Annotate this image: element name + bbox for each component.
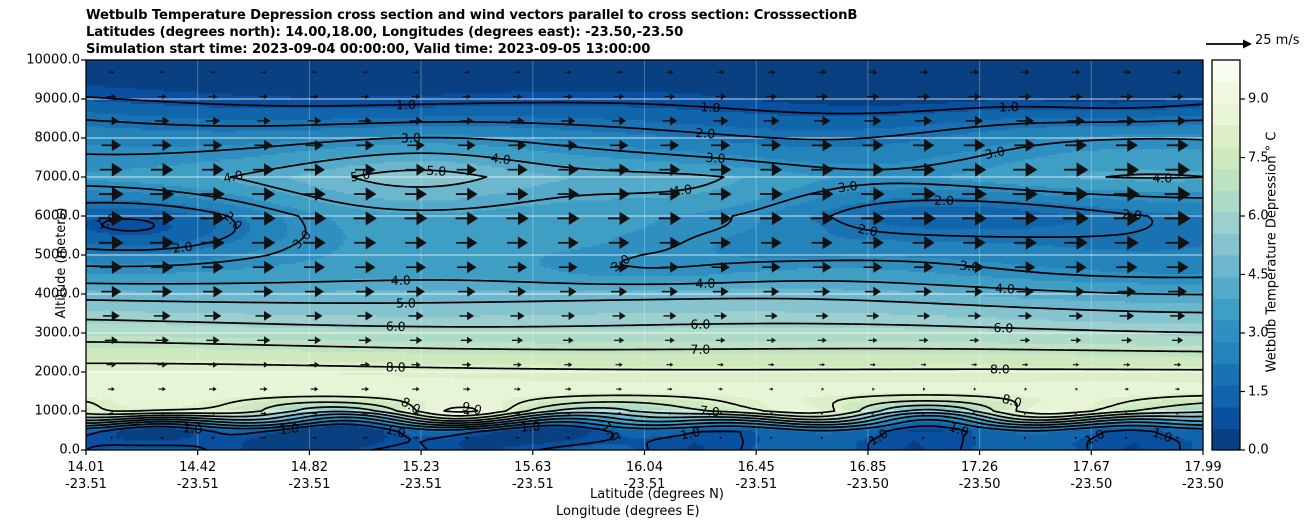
colorbar-swatch xyxy=(1212,320,1240,342)
x-tick-label-group: 14.82-23.51 xyxy=(288,459,330,493)
x-tick-label-group: 14.42-23.51 xyxy=(177,459,219,493)
x-tick-label-group: 17.99-23.50 xyxy=(1182,459,1224,493)
x-tick-label-latitude: 17.99 xyxy=(1182,459,1224,476)
colorbar-swatch xyxy=(1212,212,1240,234)
y-tick-label: 4000.0 xyxy=(35,287,81,302)
colorbar-swatch xyxy=(1212,255,1240,277)
svg-text:1.0: 1.0 xyxy=(278,420,299,437)
contour-label: 8.0 xyxy=(383,359,409,375)
contour-label: 4.0 xyxy=(692,275,718,292)
contour-label: 4.0 xyxy=(992,280,1019,297)
svg-text:5.0: 5.0 xyxy=(396,295,416,310)
colorbar-swatch xyxy=(1212,168,1240,190)
contour-label: 1.0 xyxy=(275,419,302,438)
colorbar-swatch xyxy=(1212,125,1240,147)
svg-text:1.0: 1.0 xyxy=(520,418,541,434)
svg-text:7.0: 7.0 xyxy=(699,402,721,419)
y-tick-label: 9000.0 xyxy=(35,92,81,107)
contour-label: 5.0 xyxy=(393,295,419,311)
contour-label: 2.0 xyxy=(931,192,957,208)
svg-text:4.0: 4.0 xyxy=(695,276,715,292)
x-tick-label-group: 15.23-23.51 xyxy=(400,459,442,493)
svg-text:4.0: 4.0 xyxy=(995,280,1016,296)
x-tick-label-latitude: 14.42 xyxy=(177,459,219,476)
contour-label: 3.0 xyxy=(702,149,729,167)
y-tick-label: 2000.0 xyxy=(35,365,81,380)
contour-label: 6.0 xyxy=(383,318,409,334)
contour-label: 6.0 xyxy=(687,316,713,332)
svg-text:6.0: 6.0 xyxy=(690,316,710,331)
colorbar-tick-label: 6.0 xyxy=(1248,209,1269,224)
colorbar-swatch xyxy=(1212,233,1240,255)
x-tick-label-longitude: -23.50 xyxy=(847,476,889,493)
x-tick-label-latitude: 17.26 xyxy=(959,459,1001,476)
contour-label: 1.0 xyxy=(393,96,419,113)
colorbar-swatch xyxy=(1212,60,1240,82)
x-tick-label-longitude: -23.50 xyxy=(1182,476,1224,493)
svg-text:2.0: 2.0 xyxy=(695,125,716,141)
contour-label: 2.0 xyxy=(169,238,196,257)
contour-label: 6.0 xyxy=(990,319,1016,336)
colorbar-tick-label: 9.0 xyxy=(1248,92,1269,107)
colorbar-swatch xyxy=(1212,190,1240,212)
contour-label: 1.0 xyxy=(179,419,206,437)
svg-text:3.0: 3.0 xyxy=(705,150,726,167)
x-tick-label-longitude: -23.50 xyxy=(1070,476,1112,493)
y-tick-label: 10000.0 xyxy=(26,53,80,68)
svg-text:1.0: 1.0 xyxy=(999,99,1019,114)
colorbar-tick-label: 3.0 xyxy=(1248,326,1269,341)
x-tick-label-longitude: -23.51 xyxy=(177,476,219,493)
x-tick-label-group: 16.45-23.51 xyxy=(735,459,777,493)
x-tick-label-longitude: -23.51 xyxy=(288,476,330,493)
svg-text:4.0: 4.0 xyxy=(490,150,512,167)
contour-label: 4.0 xyxy=(388,272,414,288)
contour-label: 1.0 xyxy=(517,418,544,436)
colorbar-swatch xyxy=(1212,103,1240,125)
y-tick-label: 3000.0 xyxy=(35,326,81,341)
y-tick-label: 5000.0 xyxy=(35,248,81,263)
contour-label: 5.0 xyxy=(423,162,450,180)
x-tick-label-latitude: 16.45 xyxy=(735,459,777,476)
colorbar xyxy=(1212,60,1245,451)
contour-label: 1.0 xyxy=(996,99,1022,115)
colorbar-swatch xyxy=(1212,298,1240,320)
colorbar-tick-label: 7.5 xyxy=(1248,150,1269,165)
cross-section-plot: 1.01.01.01.01.01.01.01.01.01.01.01.01.01… xyxy=(0,0,1312,526)
contour-label: 1.0 xyxy=(697,99,724,117)
contour-label: 2.0 xyxy=(692,124,719,142)
colorbar-swatch xyxy=(1212,428,1240,450)
colorbar-swatch xyxy=(1212,277,1240,299)
x-tick-label-longitude: -23.51 xyxy=(65,476,107,493)
svg-text:3.0: 3.0 xyxy=(837,178,859,196)
colorbar-swatch xyxy=(1212,342,1240,364)
y-tick-label: 8000.0 xyxy=(35,131,81,146)
x-tick-label-group: 17.67-23.50 xyxy=(1070,459,1112,493)
x-tick-label-group: 16.04-23.51 xyxy=(624,459,666,493)
contour-label: 8.0 xyxy=(987,361,1013,377)
x-tick-label-latitude: 15.63 xyxy=(512,459,554,476)
colorbar-swatch xyxy=(1212,385,1240,407)
svg-text:4.0: 4.0 xyxy=(1152,170,1172,185)
x-tick-label-latitude: 17.67 xyxy=(1070,459,1112,476)
x-tick-label-longitude: -23.51 xyxy=(624,476,666,493)
y-tick-label: 0.0 xyxy=(59,443,80,458)
colorbar-swatch xyxy=(1212,363,1240,385)
svg-text:4.0: 4.0 xyxy=(391,273,411,288)
svg-text:8.0: 8.0 xyxy=(386,359,406,374)
svg-text:8.0: 8.0 xyxy=(990,362,1010,377)
colorbar-tick-label: 0.0 xyxy=(1248,443,1269,458)
y-tick-label: 6000.0 xyxy=(35,209,81,224)
colorbar-swatch xyxy=(1212,147,1240,169)
x-tick-label-longitude: -23.51 xyxy=(735,476,777,493)
svg-text:5.0: 5.0 xyxy=(426,163,447,179)
x-tick-label-latitude: 16.85 xyxy=(847,459,889,476)
colorbar-tick-label: 1.5 xyxy=(1248,384,1269,399)
y-tick-label: 1000.0 xyxy=(35,404,81,419)
svg-text:6.0: 6.0 xyxy=(993,320,1013,336)
contour-label: 7.0 xyxy=(687,341,713,357)
x-tick-label-group: 16.85-23.50 xyxy=(847,459,889,493)
x-tick-label-longitude: -23.51 xyxy=(512,476,554,493)
x-tick-label-group: 14.01-23.51 xyxy=(65,459,107,493)
svg-text:1.0: 1.0 xyxy=(396,97,416,112)
svg-text:2.0: 2.0 xyxy=(934,193,954,208)
x-tick-label-latitude: 14.01 xyxy=(65,459,107,476)
x-tick-label-latitude: 14.82 xyxy=(288,459,330,476)
contour-label: 4.0 xyxy=(487,149,515,168)
x-tick-label-latitude: 15.23 xyxy=(400,459,442,476)
colorbar-swatch xyxy=(1212,82,1240,104)
svg-text:1.0: 1.0 xyxy=(182,420,203,437)
x-tick-label-latitude: 16.04 xyxy=(624,459,666,476)
svg-text:1.0: 1.0 xyxy=(700,99,721,115)
contour-label: 7.0 xyxy=(696,402,723,421)
x-tick-label-group: 17.26-23.50 xyxy=(959,459,1001,493)
x-tick-label-longitude: -23.50 xyxy=(959,476,1001,493)
colorbar-tick-label: 4.5 xyxy=(1248,267,1269,282)
contour-label: 3.0 xyxy=(834,177,862,196)
x-tick-label-group: 15.63-23.51 xyxy=(512,459,554,493)
svg-text:6.0: 6.0 xyxy=(386,319,406,334)
svg-text:7.0: 7.0 xyxy=(690,342,710,357)
chart-figure: Wetbulb Temperature Depression cross sec… xyxy=(0,0,1312,526)
svg-text:2.0: 2.0 xyxy=(172,239,194,256)
y-tick-label: 7000.0 xyxy=(35,170,81,185)
x-tick-label-longitude: -23.51 xyxy=(400,476,442,493)
colorbar-swatch xyxy=(1212,407,1240,429)
contour-label: 4.0 xyxy=(1149,170,1175,186)
